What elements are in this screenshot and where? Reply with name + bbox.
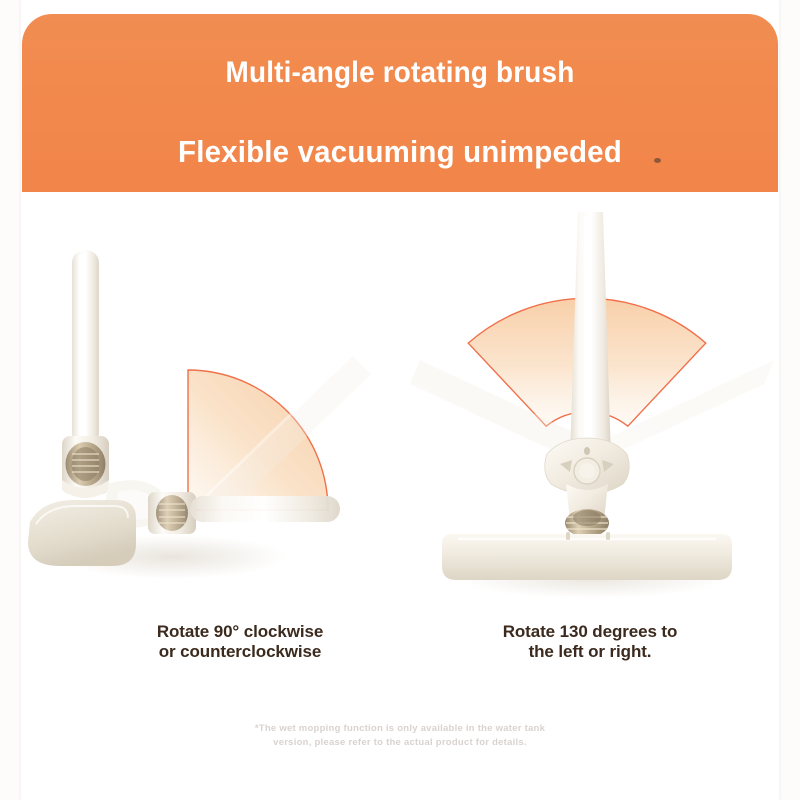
promo-page: Multi-angle rotating brush Flexible vacu…: [0, 0, 800, 800]
left-threaded-ring: [66, 442, 106, 486]
banner-headline-primary: Multi-angle rotating brush: [48, 58, 751, 88]
right-threaded-collar: [565, 509, 609, 537]
right-pivot-button-inner: [579, 463, 595, 479]
right-joint-vent-hole: [584, 447, 590, 455]
left-wand-highlight: [79, 254, 86, 440]
caption-right-rotation: Rotate 130 degrees to the left or right.: [400, 622, 780, 661]
right-wand-highlight: [584, 216, 591, 454]
left-secondary-ring: [148, 492, 196, 534]
banner-speck-artifact: [654, 158, 661, 163]
left-rotation-arc-90: [188, 370, 328, 510]
left-nozzle-arm: [190, 496, 340, 522]
header-banner: Multi-angle rotating brush Flexible vacu…: [22, 14, 778, 192]
right-head-notch-left: [566, 532, 570, 540]
banner-headline-secondary: Flexible vacuuming unimpeded: [41, 136, 759, 167]
illustration-stage: [22, 192, 778, 622]
footer-disclaimer: *The wet mopping function is only availa…: [0, 722, 800, 751]
right-product-svg: [400, 192, 778, 622]
right-floor-head: [442, 534, 732, 580]
illustration-right-130-degree: [400, 192, 778, 622]
illustration-left-90-degree: [22, 192, 400, 622]
right-head-notch-right: [606, 532, 610, 540]
left-brush-head: [28, 500, 136, 566]
left-product-svg: [22, 192, 400, 622]
caption-left-rotation: Rotate 90° clockwise or counterclockwise: [40, 622, 440, 661]
